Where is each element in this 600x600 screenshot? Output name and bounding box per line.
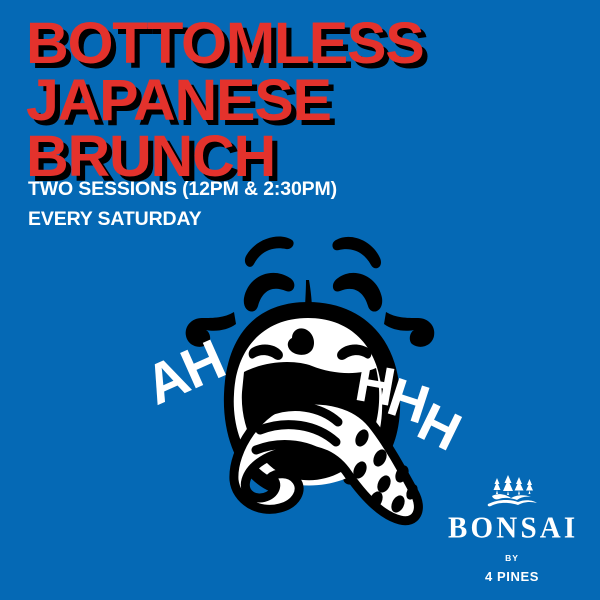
bonsai-wordmark: BONSAI (448, 513, 576, 543)
headline-line-1: BOTTOMLESS (26, 16, 597, 72)
eyebrows-group (245, 237, 381, 269)
four-pines-brand-label: 4 PINES (448, 570, 576, 583)
four-pines-trees-icon (482, 474, 542, 510)
subhead-line-sessions: TWO SESSIONS (12PM & 2:30PM) (28, 174, 568, 204)
poster-canvas: BOTTOMLESS JAPANESE BRUNCH TWO SESSIONS … (0, 0, 600, 600)
headline-line-2: JAPANESE (26, 73, 597, 129)
logo-by-label: BY (448, 554, 576, 563)
bonsai-logo-lockup: BONSAI BY 4 PINES (448, 474, 576, 583)
headline: BOTTOMLESS JAPANESE BRUNCH (26, 16, 586, 186)
